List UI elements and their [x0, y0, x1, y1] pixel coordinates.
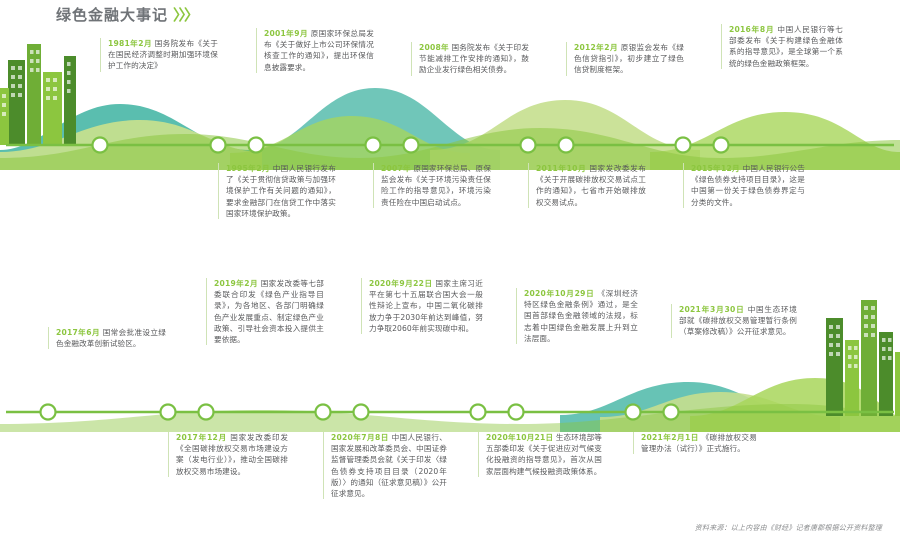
title-arrows-icon: 〉〉〉	[173, 4, 197, 25]
event-card[interactable]: 2016年8月 中国人民银行等七部委发布《关于构建绿色金融体系的指导意见》，是全…	[721, 24, 843, 69]
event-date: 2011年10月	[536, 164, 586, 173]
event-card[interactable]: 2021年3月30日 中国生态环境部就《碳排放权交易管理暂行条例（草案修改稿）》…	[671, 304, 797, 338]
city-buildings-bottom-right	[826, 300, 900, 416]
infographic-canvas: 绿色金融大事记 〉〉〉 1981年2月 国务院发布《关于在国民经济调整时期加强环…	[0, 0, 900, 543]
event-card[interactable]: 2021年2月1日 《碳排放权交易管理办法（试行）》正式施行。	[633, 432, 757, 454]
event-date: 2001年9月	[264, 29, 308, 38]
event-card[interactable]: 2017年6月 国常会批准设立绿色金融改革创新试验区。	[48, 327, 166, 349]
event-card[interactable]: 2011年10月 国家发改委发布《关于开展碳排放权交易试点工作的通知》，七省市开…	[528, 163, 646, 208]
source-note: 资料来源：以上内容由《财经》记者唐郡根据公开资料整理	[695, 523, 882, 533]
event-date: 1995年2月	[226, 164, 270, 173]
event-date: 2020年10月29日	[524, 289, 594, 298]
background-illustration	[0, 0, 900, 543]
event-card[interactable]: 2019年2月 国家发改委等七部委联合印发《绿色产业指导目录》，为各地区、各部门…	[206, 278, 324, 345]
event-card[interactable]: 2020年7月8日 中国人民银行、国家发展和改革委员会、中国证券监督管理委员会就…	[323, 432, 447, 499]
event-card[interactable]: 2007年 原国家环保总局、原保监会发布《关于环境污染责任保险工作的指导意见》，…	[373, 163, 491, 208]
event-text: 国家发改委等七部委联合印发《绿色产业指导目录》，为各地区、各部门明确绿色产业发展…	[214, 279, 324, 344]
event-card[interactable]: 2015年12月 中国人民银行公告《绿色债券支持项目目录》，这是中国第一份关于绿…	[683, 163, 805, 208]
event-card[interactable]: 2020年10月29日 《深圳经济特区绿色金融条例》通过，是全国首部绿色金融领域…	[516, 288, 638, 344]
event-date: 2015年12月	[691, 164, 740, 173]
event-date: 2017年6月	[56, 328, 100, 337]
top-hills	[0, 88, 900, 172]
event-date: 2019年2月	[214, 279, 258, 288]
event-date: 2021年2月1日	[641, 433, 699, 442]
event-card[interactable]: 2008年 国务院发布《关于印发节能减排工作安排的通知》，鼓励企业发行绿色相关债…	[411, 42, 529, 76]
event-card[interactable]: 1995年2月 中国人民银行发布了《关于贯彻信贷政策与加强环境保护工作有关问题的…	[218, 163, 336, 219]
event-text: 中国人民银行、国家发展和改革委员会、中国证券监督管理委员会就《关于印发〈绿色债券…	[331, 433, 447, 498]
page-title-text: 绿色金融大事记	[56, 4, 168, 25]
event-date: 2017年12月	[176, 433, 227, 442]
event-card[interactable]: 2020年10月21日 生态环境部等五部委印发《关于促进应对气候变化投融资的指导…	[478, 432, 602, 477]
event-date: 2020年7月8日	[331, 433, 389, 442]
event-date: 2020年10月21日	[486, 433, 553, 442]
page-title: 绿色金融大事记 〉〉〉	[56, 4, 197, 25]
event-card[interactable]: 2017年12月 国家发改委印发《全国碳排放权交易市场建设方案（发电行业）》，推…	[168, 432, 288, 477]
event-date: 2021年3月30日	[679, 305, 745, 314]
event-card[interactable]: 2001年9月 原国家环保总局发布《关于做好上市公司环保情况核查工作的通知》，提…	[256, 28, 374, 73]
event-date: 2016年8月	[729, 25, 774, 34]
event-card[interactable]: 2020年9月22日 国家主席习近平在第七十五届联合国大会一般性辩论上宣布，中国…	[361, 278, 483, 334]
city-buildings-top-left	[0, 44, 76, 145]
bottom-hills	[0, 378, 900, 432]
event-date: 2007年	[381, 164, 411, 173]
event-date: 2020年9月22日	[369, 279, 433, 288]
event-date: 1981年2月	[108, 39, 152, 48]
event-date: 2008年	[419, 43, 449, 52]
event-card[interactable]: 2012年2月 原银监会发布《绿色信贷指引》，初步建立了绿色信贷制度框架。	[566, 42, 684, 76]
event-date: 2012年2月	[574, 43, 618, 52]
event-card[interactable]: 1981年2月 国务院发布《关于在国民经济调整时期加强环境保护工作的决定》	[100, 38, 218, 72]
